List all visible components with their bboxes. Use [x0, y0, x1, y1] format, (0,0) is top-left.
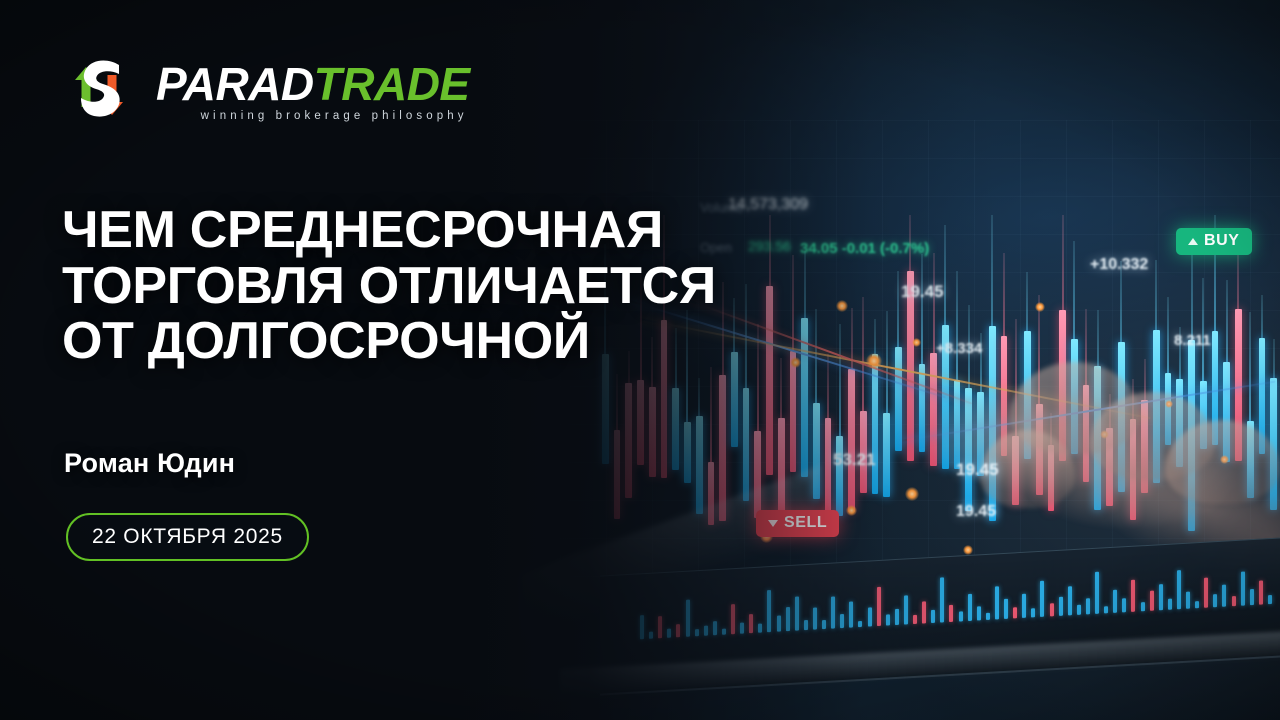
logo-word-trade: TRADE: [314, 61, 470, 107]
date-badge: 22 ОКТЯБРЯ 2025: [66, 513, 309, 561]
logo-wordmark: PARAD TRADE winning brokerage philosophy: [156, 61, 470, 122]
logo-tagline: winning brokerage philosophy: [156, 110, 470, 122]
slide-canvas: Volume 14,573,309 Open 293.56 34.05 -0.0…: [0, 0, 1280, 720]
logo-word-parad: PARAD: [156, 61, 314, 107]
headline-line-2: ТОРГОВЛЯ ОТЛИЧАЕТСЯ: [62, 259, 822, 315]
logo-word: PARAD TRADE: [156, 61, 470, 107]
brand-logo[interactable]: PARAD TRADE winning brokerage philosophy: [56, 55, 470, 127]
headline-line-1: ЧЕМ СРЕДНЕСРОЧНАЯ: [62, 203, 822, 259]
author-name: Роман Юдин: [64, 448, 235, 479]
headline-line-3: ОТ ДОЛГОСРОЧНОЙ: [62, 314, 822, 370]
logo-mark-icon: [56, 55, 142, 127]
page-title: ЧЕМ СРЕДНЕСРОЧНАЯ ТОРГОВЛЯ ОТЛИЧАЕТСЯ ОТ…: [62, 203, 822, 370]
